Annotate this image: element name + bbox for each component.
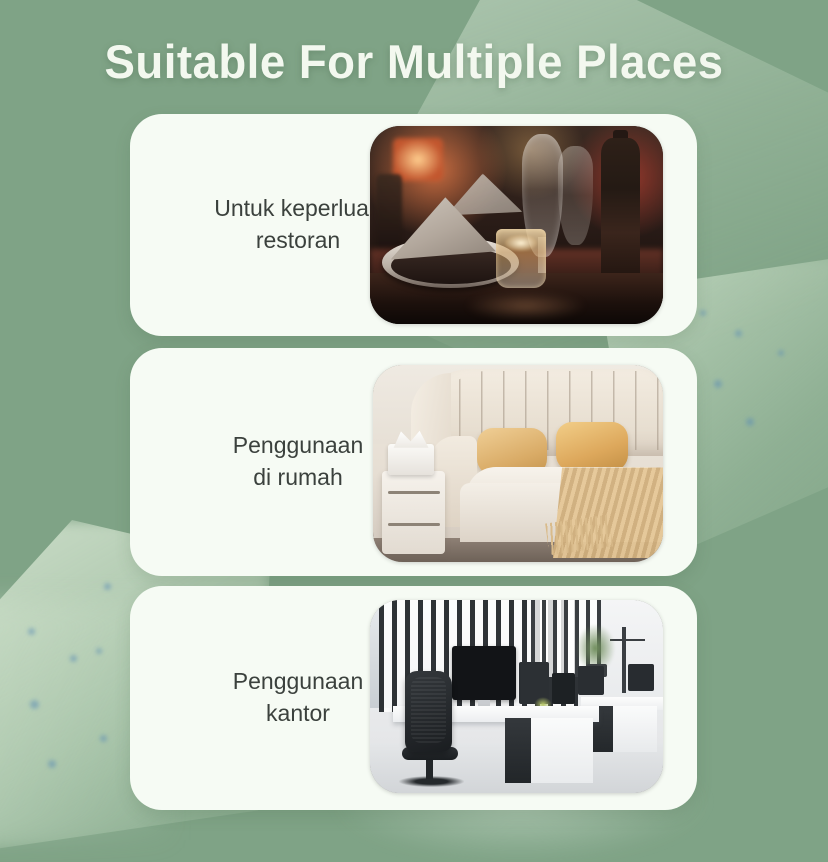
place-card-office[interactable]: Penggunaan kantor xyxy=(130,586,697,810)
decor-dot xyxy=(714,380,722,388)
decor-dot xyxy=(30,700,39,709)
place-card-restaurant[interactable]: Untuk keperluan restoran xyxy=(130,114,697,336)
restaurant-table-setting-photo xyxy=(370,126,663,324)
decor-dot xyxy=(100,735,107,742)
office-interior-photo xyxy=(370,600,663,793)
decor-dot xyxy=(48,760,56,768)
decor-dot xyxy=(778,350,784,356)
place-card-home[interactable]: Penggunaan di rumah xyxy=(130,348,697,576)
decor-dot xyxy=(70,655,77,662)
decor-dot xyxy=(96,648,102,654)
decor-dot xyxy=(104,583,111,590)
decor-dot xyxy=(700,310,706,316)
poster-canvas: Suitable For Multiple Places Untuk keper… xyxy=(0,0,828,822)
decor-dot xyxy=(28,628,35,635)
decor-dot xyxy=(735,330,742,337)
bedroom-interior-photo xyxy=(373,365,663,562)
page-title: Suitable For Multiple Places xyxy=(12,34,815,89)
decor-dot xyxy=(746,418,754,426)
